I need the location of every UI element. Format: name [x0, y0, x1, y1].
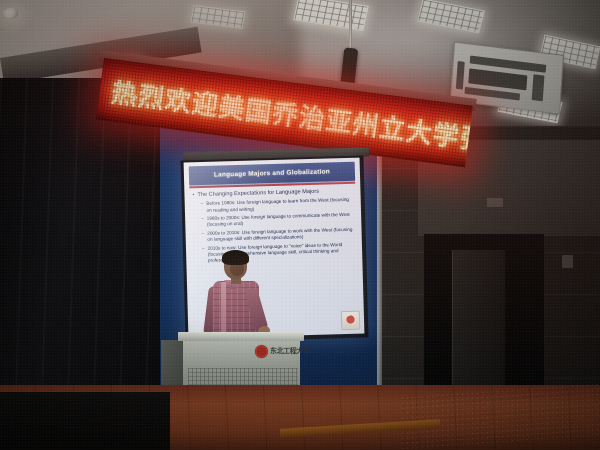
presenter-hair	[222, 250, 249, 265]
exit-sign	[487, 198, 503, 207]
bullet-text: The Changing Expectations for Language M…	[197, 189, 319, 199]
university-seal-watermark	[341, 311, 361, 331]
podium-plaque-text: 东北工程大学	[270, 346, 310, 356]
bullet-marker: –	[201, 216, 204, 228]
bullet-marker: –	[201, 231, 204, 243]
slide-title: Language Majors and Globalization	[214, 168, 330, 178]
bullet-text: Before 1980s: Use foreign language to le…	[206, 197, 353, 213]
podium-nameplate: 东北工程大学	[253, 340, 300, 362]
slide-bullet: – Before 1980s: Use foreign language to …	[201, 197, 353, 213]
ceiling-spotlight	[3, 8, 18, 19]
bullet-marker: •	[192, 192, 194, 199]
projector-mount-rod	[349, 0, 352, 52]
university-seal	[255, 345, 268, 358]
wall-switch	[562, 255, 573, 268]
bullet-marker: –	[201, 201, 204, 213]
bullet-text: 1980s to 2000s: Use foreign language to …	[207, 212, 354, 228]
lecture-hall-photo: 热烈欢迎美国乔治亚州立大学张琛奕副教授 Language Majors and …	[0, 0, 600, 450]
bullet-text: 2000s to 2010s: Use foreign language to …	[207, 227, 354, 243]
foreground-shadow	[0, 392, 170, 450]
wall-corner-edge	[377, 140, 382, 385]
slide-bullet: – 2000s to 2010s: Use foreign language t…	[201, 227, 353, 243]
slide-bullet: – 1980s to 2000s: Use foreign language t…	[201, 212, 353, 228]
